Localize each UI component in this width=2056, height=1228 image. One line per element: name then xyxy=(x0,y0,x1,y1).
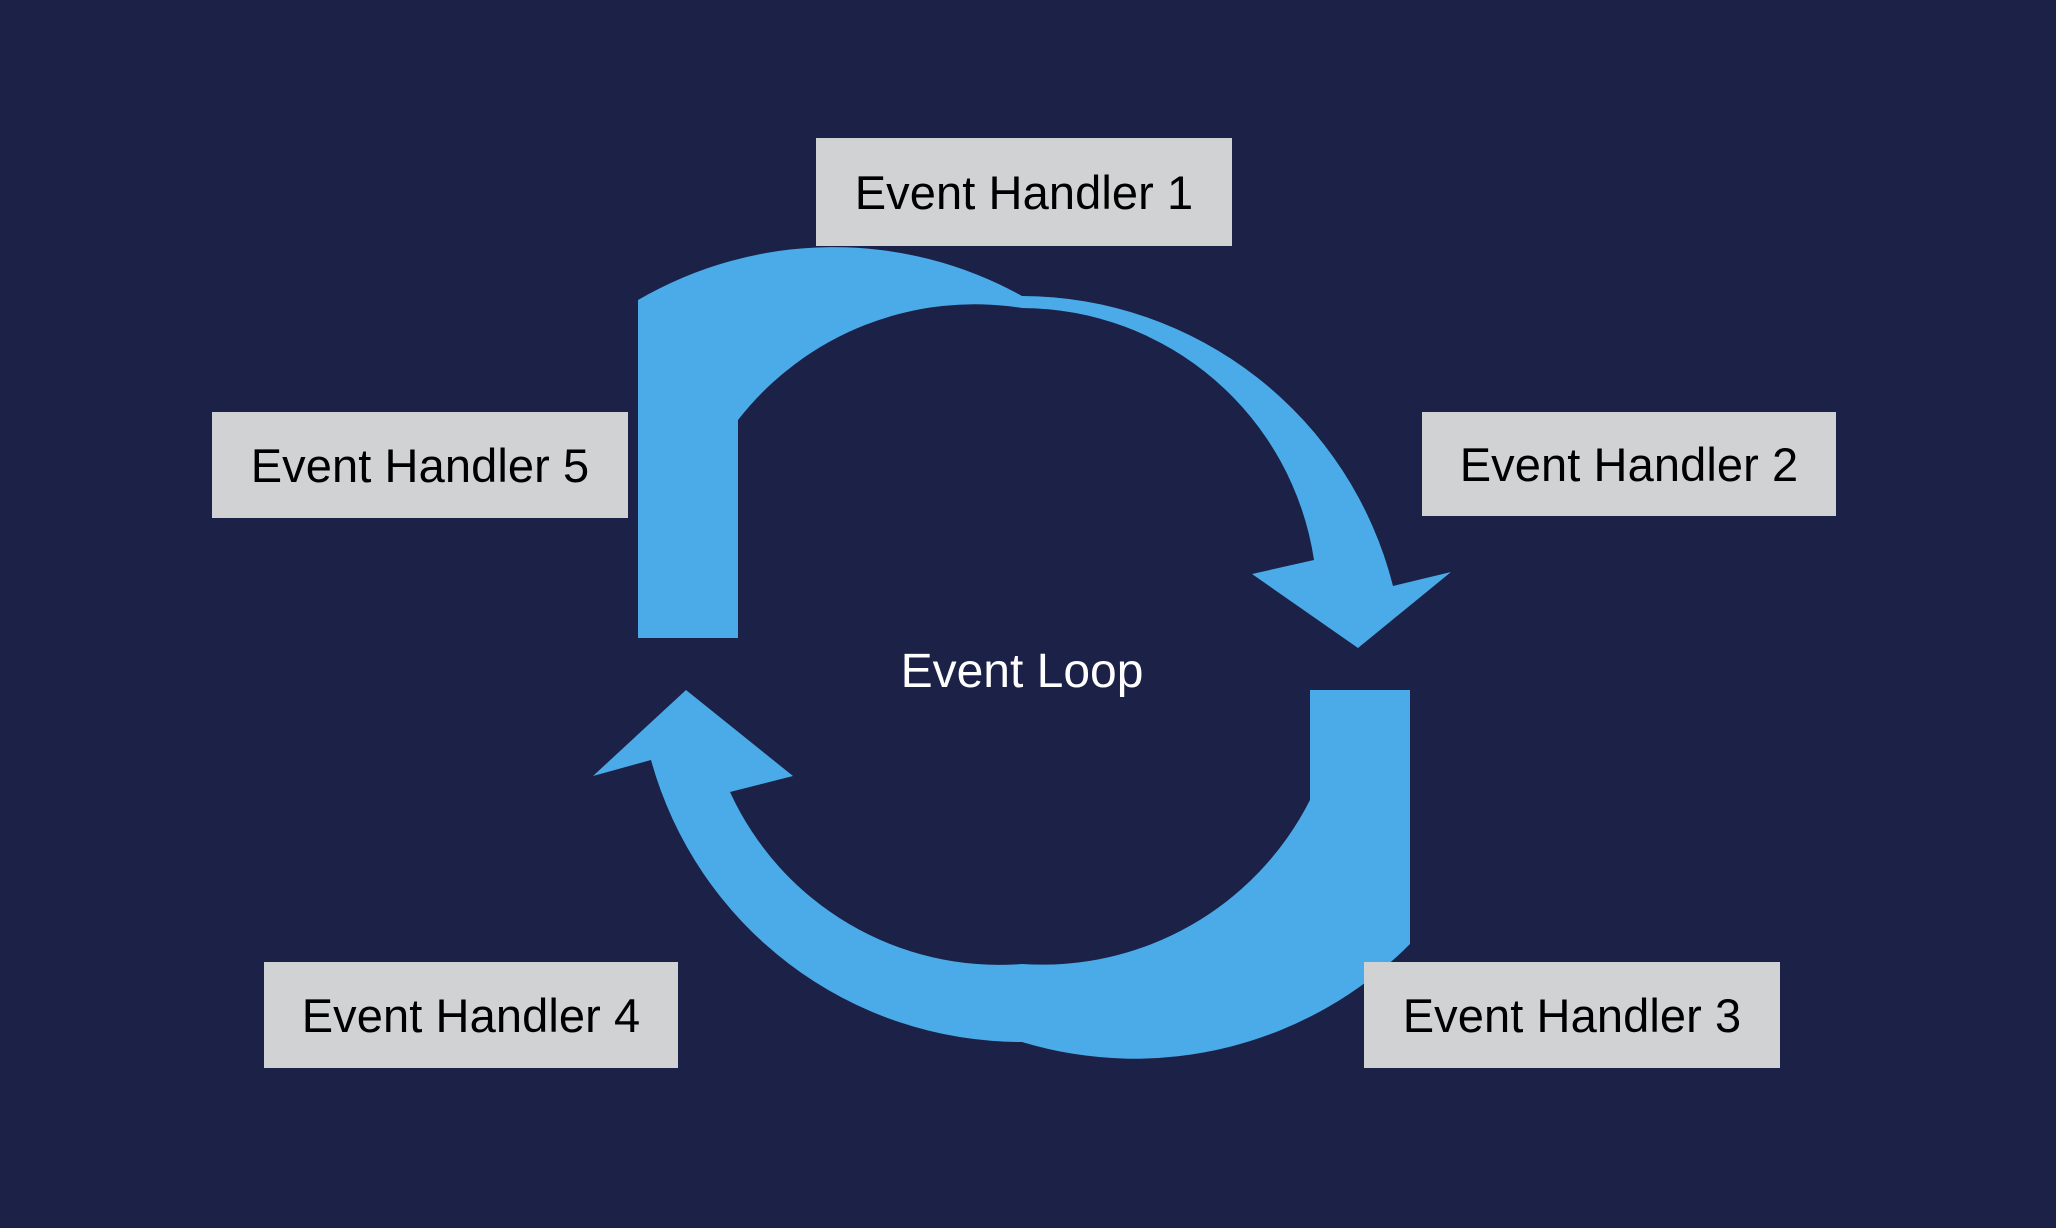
event-loop-center-label: Event Loop xyxy=(822,640,1222,704)
clockwise-bottom-arrow-arc xyxy=(593,690,1410,1059)
handler-label-5: Event Handler 5 xyxy=(251,442,590,489)
diagram-canvas: Event Handler 1 Event Handler 2 Event Ha… xyxy=(0,0,2056,1228)
handler-label-2: Event Handler 2 xyxy=(1460,441,1799,488)
clockwise-top-arrow-arc xyxy=(638,247,1451,648)
handler-label-3: Event Handler 3 xyxy=(1403,992,1742,1039)
handler-label-1: Event Handler 1 xyxy=(855,169,1194,216)
handler-box-3[interactable]: Event Handler 3 xyxy=(1364,962,1780,1068)
handler-box-4[interactable]: Event Handler 4 xyxy=(264,962,678,1068)
handler-box-1[interactable]: Event Handler 1 xyxy=(816,138,1232,246)
center-label-text: Event Loop xyxy=(901,648,1144,696)
handler-box-5[interactable]: Event Handler 5 xyxy=(212,412,628,518)
handler-label-4: Event Handler 4 xyxy=(302,992,641,1039)
handler-box-2[interactable]: Event Handler 2 xyxy=(1422,412,1836,516)
